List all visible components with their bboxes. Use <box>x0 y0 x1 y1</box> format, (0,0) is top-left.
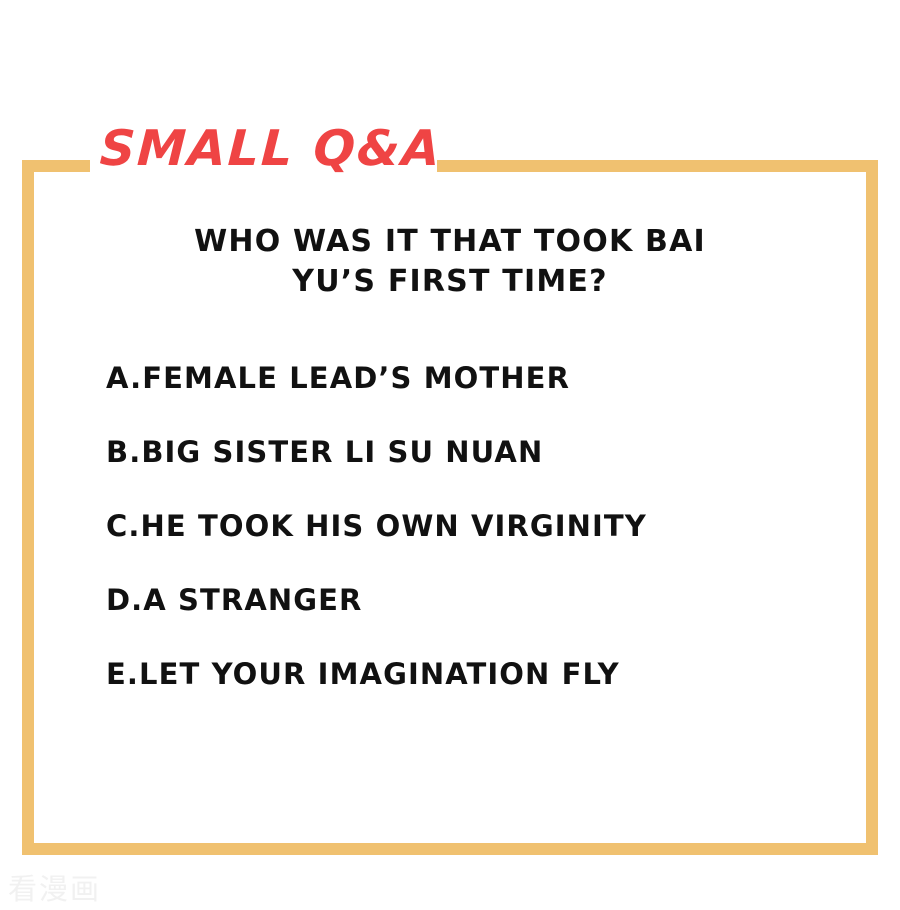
site-watermark: 看漫画 <box>8 866 101 908</box>
answer-option-c[interactable]: C.HE TOOK HIS OWN VIRGINITY <box>106 504 806 578</box>
answer-option-d[interactable]: D.A STRANGER <box>106 578 806 652</box>
answer-option-e[interactable]: E.LET YOUR IMAGINATION FLY <box>106 652 806 726</box>
frame-right-segment <box>866 160 878 855</box>
question-line-2: YU’S FIRST TIME? <box>34 262 866 302</box>
question-text: WHO WAS IT THAT TOOK BAI YU’S FIRST TIME… <box>34 222 866 302</box>
panel-title: SMALL Q&A <box>99 124 443 173</box>
frame-bottom-segment <box>22 843 878 855</box>
question-line-1: WHO WAS IT THAT TOOK BAI <box>34 222 866 262</box>
answer-option-b[interactable]: B.BIG SISTER LI SU NUAN <box>106 430 806 504</box>
comic-qa-panel: SMALL Q&A WHO WAS IT THAT TOOK BAI YU’S … <box>0 0 900 910</box>
frame-left-segment <box>22 160 34 855</box>
frame-top-segment <box>437 160 878 172</box>
answer-option-a[interactable]: A.FEMALE LEAD’S MOTHER <box>106 356 806 430</box>
answer-options-list: A.FEMALE LEAD’S MOTHER B.BIG SISTER LI S… <box>106 356 806 726</box>
